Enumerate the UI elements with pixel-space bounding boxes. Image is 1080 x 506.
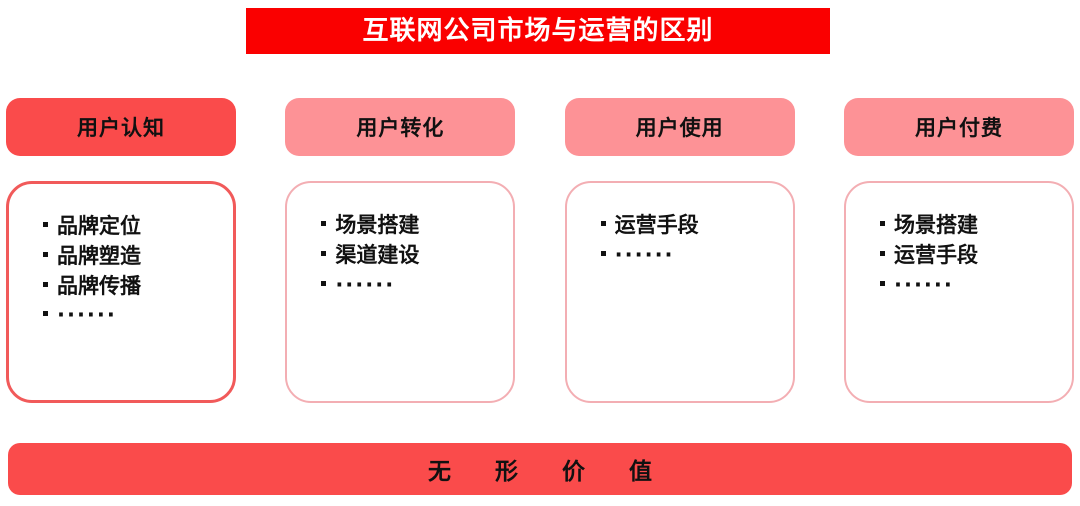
list-item-label: 品牌传播 — [57, 272, 141, 302]
bullet-square-icon — [321, 221, 326, 226]
list-item: 品牌定位 — [43, 212, 233, 242]
list-item-label: 品牌塑造 — [57, 242, 141, 272]
stage-header-4[interactable]: 用户付费 — [844, 98, 1074, 156]
list-item: 场景搭建 — [321, 211, 513, 241]
stage-header-label: 用户认知 — [77, 112, 165, 142]
bullet-square-icon — [880, 221, 885, 226]
bullet-square-icon — [43, 252, 48, 257]
list-item: ······ — [321, 271, 513, 301]
stage-column: 用户转化场景搭建渠道建设······ — [285, 98, 515, 413]
stage-header-label: 用户转化 — [356, 112, 444, 142]
stage-columns: 用户认知品牌定位品牌塑造品牌传播······用户转化场景搭建渠道建设······… — [0, 98, 1080, 413]
stage-item-list: 场景搭建运营手段······ — [880, 211, 1072, 300]
stage-card-2: 场景搭建渠道建设······ — [285, 181, 515, 403]
bullet-square-icon — [880, 281, 885, 286]
stage-card-3: 运营手段······ — [565, 181, 795, 403]
list-item: 场景搭建 — [880, 211, 1072, 241]
list-item-label: 场景搭建 — [894, 211, 978, 241]
list-item-label: 场景搭建 — [335, 211, 419, 241]
stage-card-4: 场景搭建运营手段······ — [844, 181, 1074, 403]
stage-header-label: 用户使用 — [636, 112, 724, 142]
stage-header-3[interactable]: 用户使用 — [565, 98, 795, 156]
stage-item-list: 场景搭建渠道建设······ — [321, 211, 513, 300]
footer-banner: 无形价值 — [8, 443, 1072, 495]
bullet-square-icon — [880, 251, 885, 256]
stage-item-list: 运营手段······ — [601, 211, 793, 271]
bullet-square-icon — [601, 221, 606, 226]
list-item-label: 运营手段 — [894, 241, 978, 271]
list-item-label: ······ — [57, 301, 117, 331]
list-item-label: 运营手段 — [615, 211, 699, 241]
list-item-label: ······ — [335, 271, 395, 301]
bullet-square-icon — [601, 251, 606, 256]
bullet-square-icon — [321, 281, 326, 286]
list-item: 运营手段 — [601, 211, 793, 241]
stage-item-list: 品牌定位品牌塑造品牌传播······ — [43, 212, 233, 331]
stage-column: 用户认知品牌定位品牌塑造品牌传播······ — [6, 98, 236, 413]
stage-header-label: 用户付费 — [915, 112, 1003, 142]
stage-column: 用户使用运营手段······ — [565, 98, 795, 413]
list-item: ······ — [880, 271, 1072, 301]
stage-header-1[interactable]: 用户认知 — [6, 98, 236, 156]
list-item: 渠道建设 — [321, 241, 513, 271]
list-item-label: 品牌定位 — [57, 212, 141, 242]
page-title: 互联网公司市场与运营的区别 — [362, 18, 713, 44]
title-banner: 互联网公司市场与运营的区别 — [246, 8, 830, 54]
bullet-square-icon — [43, 222, 48, 227]
list-item: ······ — [601, 241, 793, 271]
stage-card-1: 品牌定位品牌塑造品牌传播······ — [6, 181, 236, 403]
stage-header-2[interactable]: 用户转化 — [285, 98, 515, 156]
list-item-label: ······ — [894, 271, 954, 301]
list-item-label: ······ — [615, 241, 675, 271]
list-item: 运营手段 — [880, 241, 1072, 271]
list-item: 品牌传播 — [43, 272, 233, 302]
list-item: 品牌塑造 — [43, 242, 233, 272]
bullet-square-icon — [43, 311, 48, 316]
stage-column: 用户付费场景搭建运营手段······ — [844, 98, 1074, 413]
bullet-square-icon — [321, 251, 326, 256]
bullet-square-icon — [43, 282, 48, 287]
list-item-label: 渠道建设 — [335, 241, 419, 271]
footer-label: 无形价值 — [384, 452, 696, 486]
list-item: ······ — [43, 301, 233, 331]
